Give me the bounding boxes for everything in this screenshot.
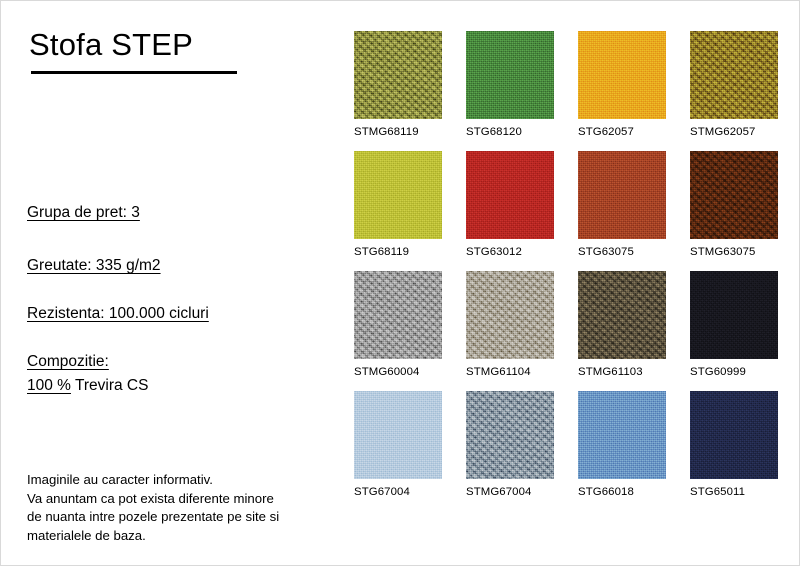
swatch-cell[interactable]: STG68120 xyxy=(466,31,554,123)
spec-resistance-text: Rezistenta: 100.000 cicluri xyxy=(27,305,209,322)
spec-resistance: Rezistenta: 100.000 cicluri xyxy=(27,305,209,323)
swatch-cell[interactable]: STMG61104 xyxy=(466,271,554,363)
swatch-cell[interactable]: STG62057 xyxy=(578,31,666,123)
spec-composition-percent: 100 % xyxy=(27,377,71,394)
swatch-code-label: STG68119 xyxy=(354,246,442,258)
swatch-cell[interactable]: STMG60004 xyxy=(354,271,442,363)
swatch-cell[interactable]: STG66018 xyxy=(578,391,666,483)
swatch-code-label: STMG61103 xyxy=(578,366,666,378)
swatch-code-label: STG63012 xyxy=(466,246,554,258)
fabric-color-chip[interactable] xyxy=(690,271,778,359)
spec-weight: Greutate: 335 g/m2 xyxy=(27,257,161,275)
spec-price-group: Grupa de pret: 3 xyxy=(27,204,140,222)
fabric-color-chip[interactable] xyxy=(578,31,666,119)
swatch-cell[interactable]: STG60999 xyxy=(690,271,778,363)
swatch-code-label: STG68120 xyxy=(466,126,554,138)
spec-composition-material: Trevira CS xyxy=(71,377,149,394)
fabric-color-chip[interactable] xyxy=(466,31,554,119)
page-title: Stofa STEP xyxy=(29,27,193,63)
spec-composition-heading: Compozitie: xyxy=(27,353,109,371)
spec-composition-value: 100 % Trevira CS xyxy=(27,377,148,395)
fabric-color-chip[interactable] xyxy=(354,271,442,359)
swatch-code-label: STMG67004 xyxy=(466,486,554,498)
swatch-cell[interactable]: STMG63075 xyxy=(690,151,778,243)
fabric-color-chip[interactable] xyxy=(690,151,778,239)
swatch-code-label: STMG63075 xyxy=(690,246,778,258)
spec-composition-heading-text: Compozitie: xyxy=(27,353,109,370)
product-info-panel: Stofa STEP Grupa de pret: 3 Greutate: 33… xyxy=(1,1,341,566)
swatch-code-label: STG65011 xyxy=(690,486,778,498)
fabric-color-chip[interactable] xyxy=(690,391,778,479)
swatch-cell[interactable]: STMG68119 xyxy=(354,31,442,123)
swatch-cell[interactable]: STG63075 xyxy=(578,151,666,243)
fabric-color-chip[interactable] xyxy=(466,151,554,239)
swatch-code-label: STMG68119 xyxy=(354,126,442,138)
fabric-spec-sheet: Stofa STEP Grupa de pret: 3 Greutate: 33… xyxy=(0,0,800,566)
fabric-color-chip[interactable] xyxy=(354,151,442,239)
fabric-color-chip[interactable] xyxy=(578,391,666,479)
title-underline-rule xyxy=(31,71,237,74)
swatch-cell[interactable]: STMG67004 xyxy=(466,391,554,483)
swatch-cell[interactable]: STG63012 xyxy=(466,151,554,243)
swatch-cell[interactable]: STMG62057 xyxy=(690,31,778,123)
fabric-color-chip[interactable] xyxy=(578,271,666,359)
swatch-code-label: STG63075 xyxy=(578,246,666,258)
swatch-code-label: STMG62057 xyxy=(690,126,778,138)
fabric-color-chip[interactable] xyxy=(354,391,442,479)
swatch-cell[interactable]: STG67004 xyxy=(354,391,442,483)
spec-weight-text: Greutate: 335 g/m2 xyxy=(27,257,161,274)
swatch-code-label: STG67004 xyxy=(354,486,442,498)
fabric-color-chip[interactable] xyxy=(578,151,666,239)
swatch-cell[interactable]: STG68119 xyxy=(354,151,442,243)
swatch-code-label: STMG60004 xyxy=(354,366,442,378)
spec-price-group-text: Grupa de pret: 3 xyxy=(27,204,140,221)
fabric-color-chip[interactable] xyxy=(466,391,554,479)
swatch-code-label: STMG61104 xyxy=(466,366,554,378)
disclaimer-text: Imaginile au caracter informativ. Va anu… xyxy=(27,471,279,545)
fabric-color-chip[interactable] xyxy=(354,31,442,119)
swatch-code-label: STG62057 xyxy=(578,126,666,138)
fabric-color-chip[interactable] xyxy=(690,31,778,119)
fabric-color-chip[interactable] xyxy=(466,271,554,359)
color-swatch-grid: STMG68119STG68120STG62057STMG62057STG681… xyxy=(354,31,778,483)
swatch-cell[interactable]: STMG61103 xyxy=(578,271,666,363)
swatch-code-label: STG66018 xyxy=(578,486,666,498)
swatch-code-label: STG60999 xyxy=(690,366,778,378)
swatch-cell[interactable]: STG65011 xyxy=(690,391,778,483)
